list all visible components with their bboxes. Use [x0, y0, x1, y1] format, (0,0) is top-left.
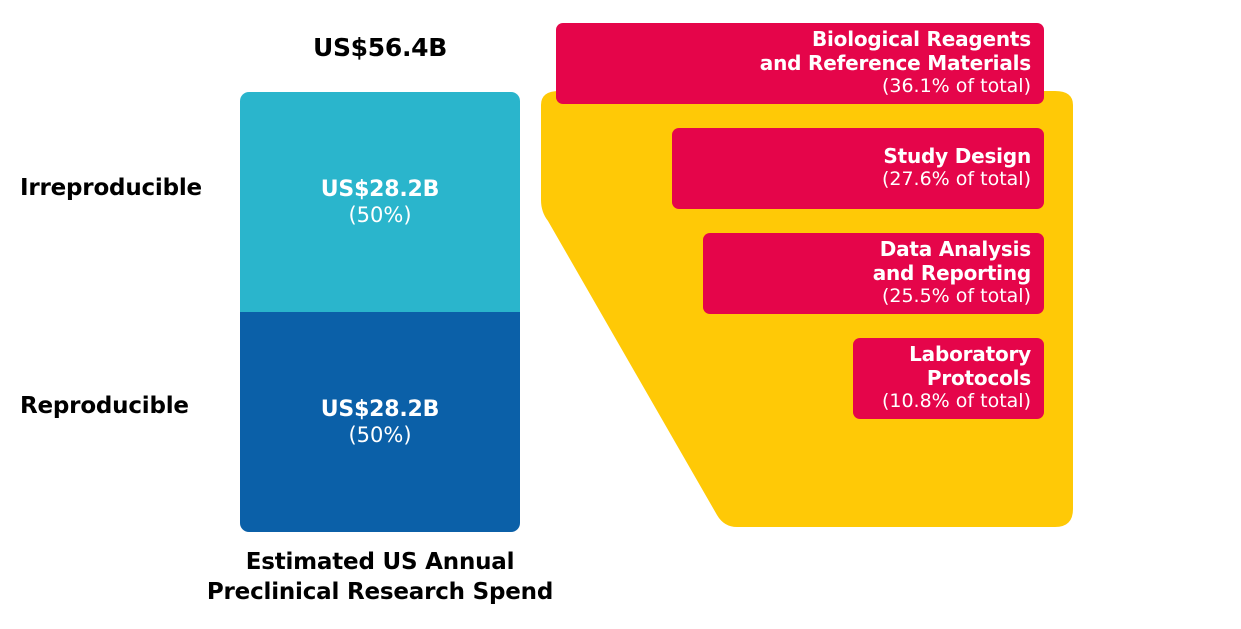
- category-share: (27.6% of total): [882, 168, 1031, 191]
- row-label-irreproducible: Irreproducible: [20, 175, 225, 201]
- bar-segment-reproducible: US$28.2B (50%): [240, 312, 520, 532]
- bar-segment-irreproducible: US$28.2B (50%): [240, 92, 520, 312]
- category-box-biological-reagents: Biological Reagents and Reference Materi…: [556, 23, 1044, 104]
- spend-caption-line2: Preclinical Research Spend: [195, 577, 565, 607]
- category-name-line1: Biological Reagents: [812, 27, 1031, 51]
- bar-segment-amount: US$28.2B: [321, 177, 439, 203]
- spend-caption-line1: Estimated US Annual: [195, 547, 565, 577]
- bar-segment-amount: US$28.2B: [321, 397, 439, 423]
- category-name-line2: Protocols: [927, 366, 1031, 390]
- stacked-bar-chart: US$28.2B (50%) US$28.2B (50%): [240, 92, 520, 532]
- category-share: (25.5% of total): [882, 285, 1031, 308]
- category-share: (10.8% of total): [882, 390, 1031, 413]
- category-share: (36.1% of total): [882, 75, 1031, 98]
- category-name-line1: Study Design: [883, 144, 1031, 168]
- category-box-data-analysis: Data Analysis and Reporting (25.5% of to…: [703, 233, 1044, 314]
- category-name-line1: Laboratory: [909, 342, 1031, 366]
- bar-segment-percent: (50%): [348, 423, 411, 448]
- categories-panel: Categories of Preclinical Irreproducibil…: [520, 0, 1241, 629]
- category-box-list: Biological Reagents and Reference Materi…: [520, 0, 1241, 629]
- category-name-line1: Data Analysis: [880, 237, 1031, 261]
- spend-panel: US$56.4B Irreproducible Reproducible US$…: [0, 0, 600, 629]
- bar-segment-percent: (50%): [348, 203, 411, 228]
- category-box-laboratory-protocols: Laboratory Protocols (10.8% of total): [853, 338, 1044, 419]
- category-name-line2: and Reference Materials: [760, 51, 1031, 75]
- row-label-reproducible: Reproducible: [20, 393, 225, 419]
- spend-caption: Estimated US Annual Preclinical Research…: [195, 547, 565, 608]
- category-name-line2: and Reporting: [873, 261, 1031, 285]
- spend-total-label: US$56.4B: [240, 33, 520, 62]
- category-box-study-design: Study Design (27.6% of total): [672, 128, 1044, 209]
